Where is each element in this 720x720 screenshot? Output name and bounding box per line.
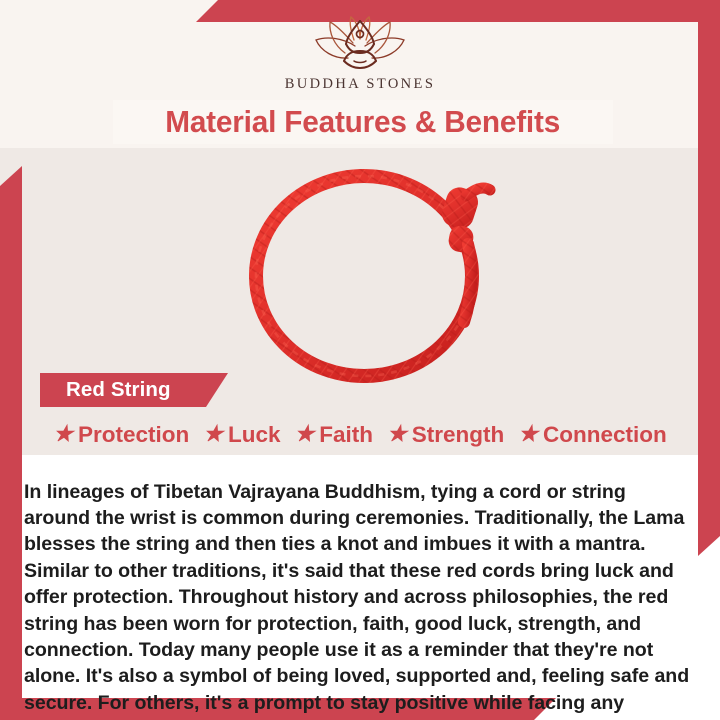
product-name: Red String: [66, 378, 171, 402]
benefit-item-protection: ★ Protection: [53, 422, 189, 448]
title-banner: Material Features & Benefits: [113, 100, 613, 144]
lotus-meditation-icon: [301, 14, 419, 74]
star-icon: ★: [387, 423, 407, 445]
benefit-label: Luck: [228, 422, 281, 448]
benefit-label: Strength: [412, 422, 505, 448]
benefit-label: Protection: [78, 422, 189, 448]
benefit-item-luck: ★ Luck: [203, 422, 280, 448]
star-icon: ★: [53, 423, 73, 445]
star-icon: ★: [518, 423, 538, 445]
product-image: [218, 152, 518, 384]
product-feature-poster: BUDDHA STONES Material Features & Benefi…: [0, 0, 720, 720]
page-title: Material Features & Benefits: [166, 104, 561, 140]
description-text: In lineages of Tibetan Vajrayana Buddhis…: [24, 479, 696, 720]
product-name-banner: Red String: [40, 373, 228, 407]
benefits-row: ★ Protection ★ Luck ★ Faith ★ Strength ★…: [0, 418, 720, 452]
star-icon: ★: [203, 423, 223, 445]
benefit-label: Connection: [543, 422, 667, 448]
star-icon: ★: [295, 423, 315, 445]
benefit-item-faith: ★ Faith: [295, 422, 373, 448]
brand-name: BUDDHA STONES: [285, 76, 436, 93]
benefit-item-connection: ★ Connection: [518, 422, 666, 448]
benefit-label: Faith: [319, 422, 373, 448]
benefit-item-strength: ★ Strength: [387, 422, 504, 448]
brand-logo: BUDDHA STONES: [0, 14, 720, 93]
